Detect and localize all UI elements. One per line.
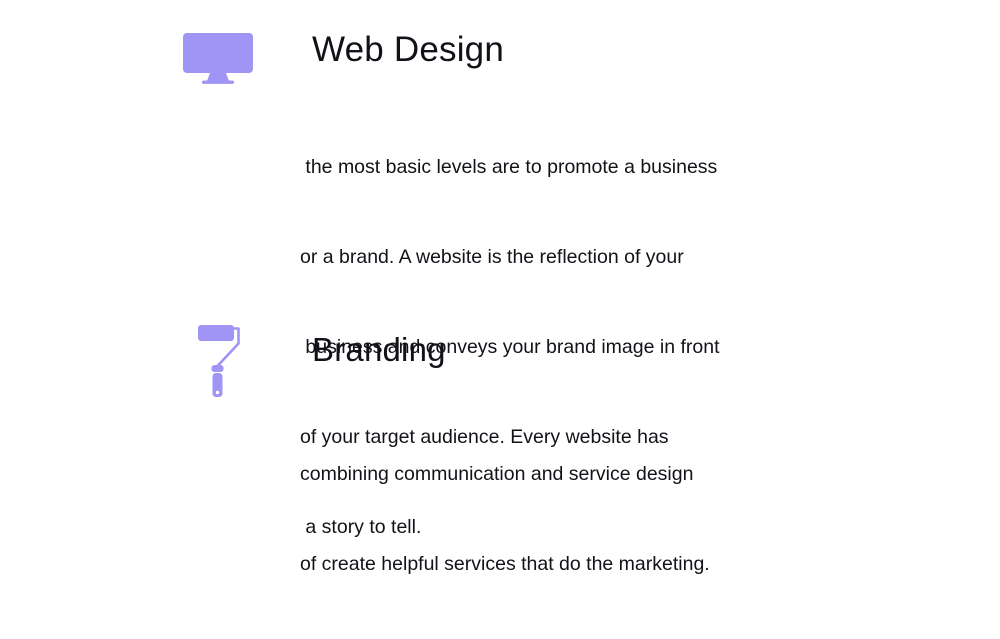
body-text-branding: combining communication and service desi… [300, 399, 710, 639]
page-title-branding: Branding [312, 333, 446, 366]
body-line: combining communication and service desi… [300, 459, 710, 489]
body-line: or a brand. A website is the reflection … [300, 242, 720, 272]
slide-canvas: Web Design the most basic levels are to … [0, 0, 1000, 501]
paint-roller-icon [198, 323, 246, 399]
body-line: of create helpful services that do the m… [300, 549, 710, 579]
section-branding: Branding combining communication and ser… [0, 0, 1000, 200]
